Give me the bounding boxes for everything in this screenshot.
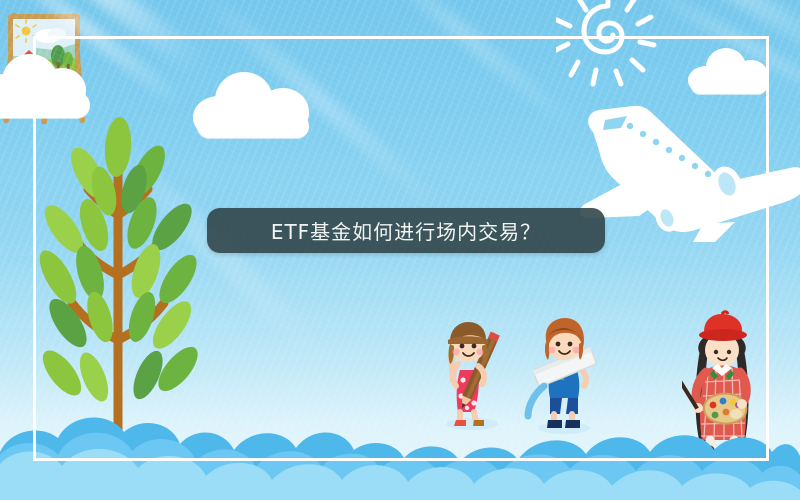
title-banner: ETF基金如何进行场内交易？ [207,208,605,253]
girl-with-pencil [430,308,510,430]
boy-with-paper [520,306,610,434]
cloud-band-front [0,428,800,500]
banner-image: ETF基金如何进行场内交易？ [0,0,800,500]
airplane-icon [575,72,800,242]
page-title: ETF基金如何进行场内交易？ [271,216,541,245]
cloud-center-left [193,70,317,138]
tree-illustration [38,105,198,435]
girl-artist-with-palette [682,304,762,486]
light-ray [357,0,583,136]
